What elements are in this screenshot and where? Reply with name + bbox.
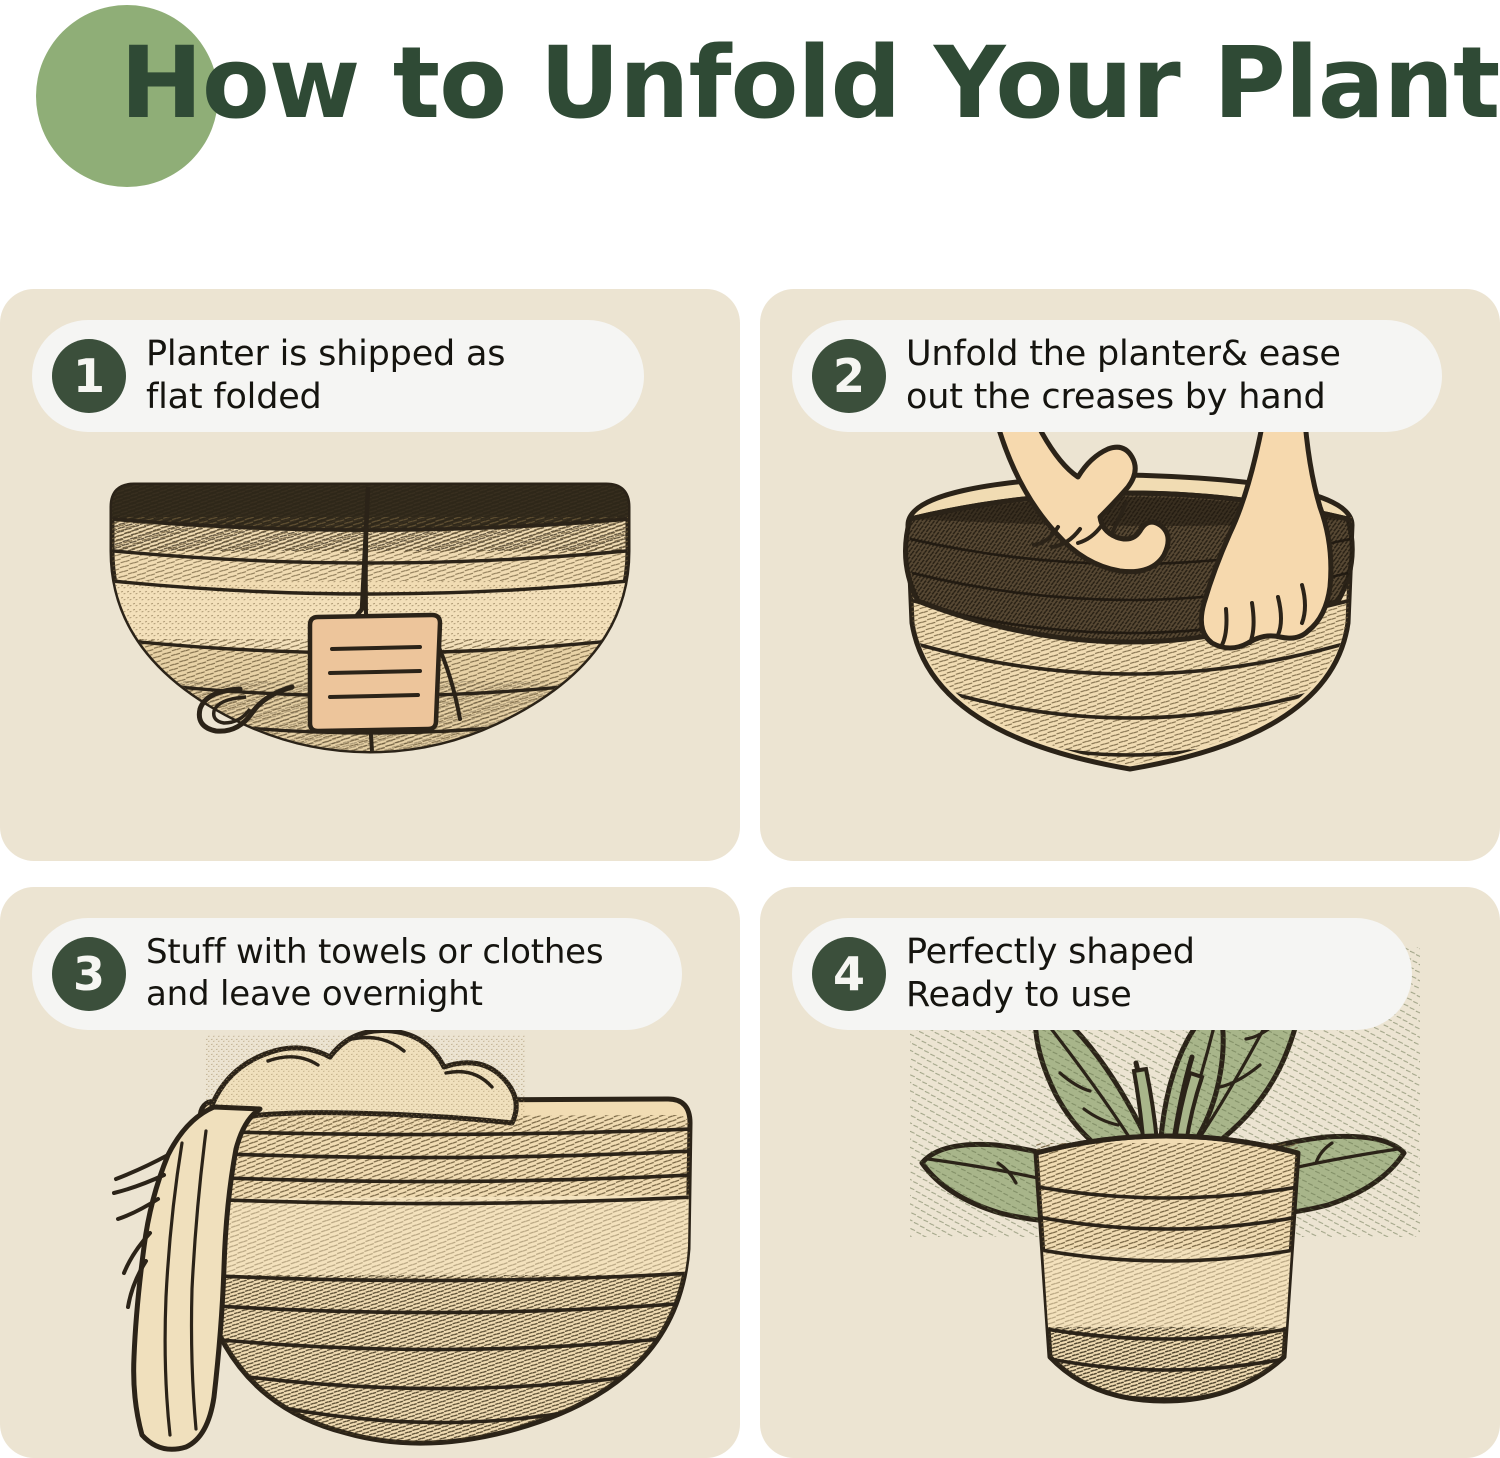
step-pill-3: 3 Stuff with towels or clothes and leave… <box>32 918 682 1030</box>
step-text-3: Stuff with towels or clothes and leave o… <box>146 932 603 1016</box>
step-text-4: Perfectly shaped Ready to use <box>906 931 1195 1017</box>
step-text-1: Planter is shipped as flat folded <box>146 333 505 419</box>
step-number-badge-3: 3 <box>52 937 126 1011</box>
step-text-2: Unfold the planter& ease out the creases… <box>906 333 1341 419</box>
step-pill-1: 1 Planter is shipped as flat folded <box>32 320 644 432</box>
step-card-3: 3 Stuff with towels or clothes and leave… <box>0 887 740 1458</box>
step-pill-4: 4 Perfectly shaped Ready to use <box>792 918 1412 1030</box>
step-number-badge-2: 2 <box>812 339 886 413</box>
step-number-badge-4: 4 <box>812 937 886 1011</box>
header: How to Unfold Your Planter <box>0 0 1500 280</box>
step-card-4: 4 Perfectly shaped Ready to use <box>760 887 1500 1458</box>
step-card-1: 1 Planter is shipped as flat folded <box>0 289 740 861</box>
step-pill-2: 2 Unfold the planter& ease out the creas… <box>792 320 1442 432</box>
page-title: How to Unfold Your Planter <box>120 26 1500 143</box>
step-number-badge-1: 1 <box>52 339 126 413</box>
step-card-2: 2 Unfold the planter& ease out the creas… <box>760 289 1500 861</box>
steps-grid: 1 Planter is shipped as flat folded <box>0 289 1500 1458</box>
